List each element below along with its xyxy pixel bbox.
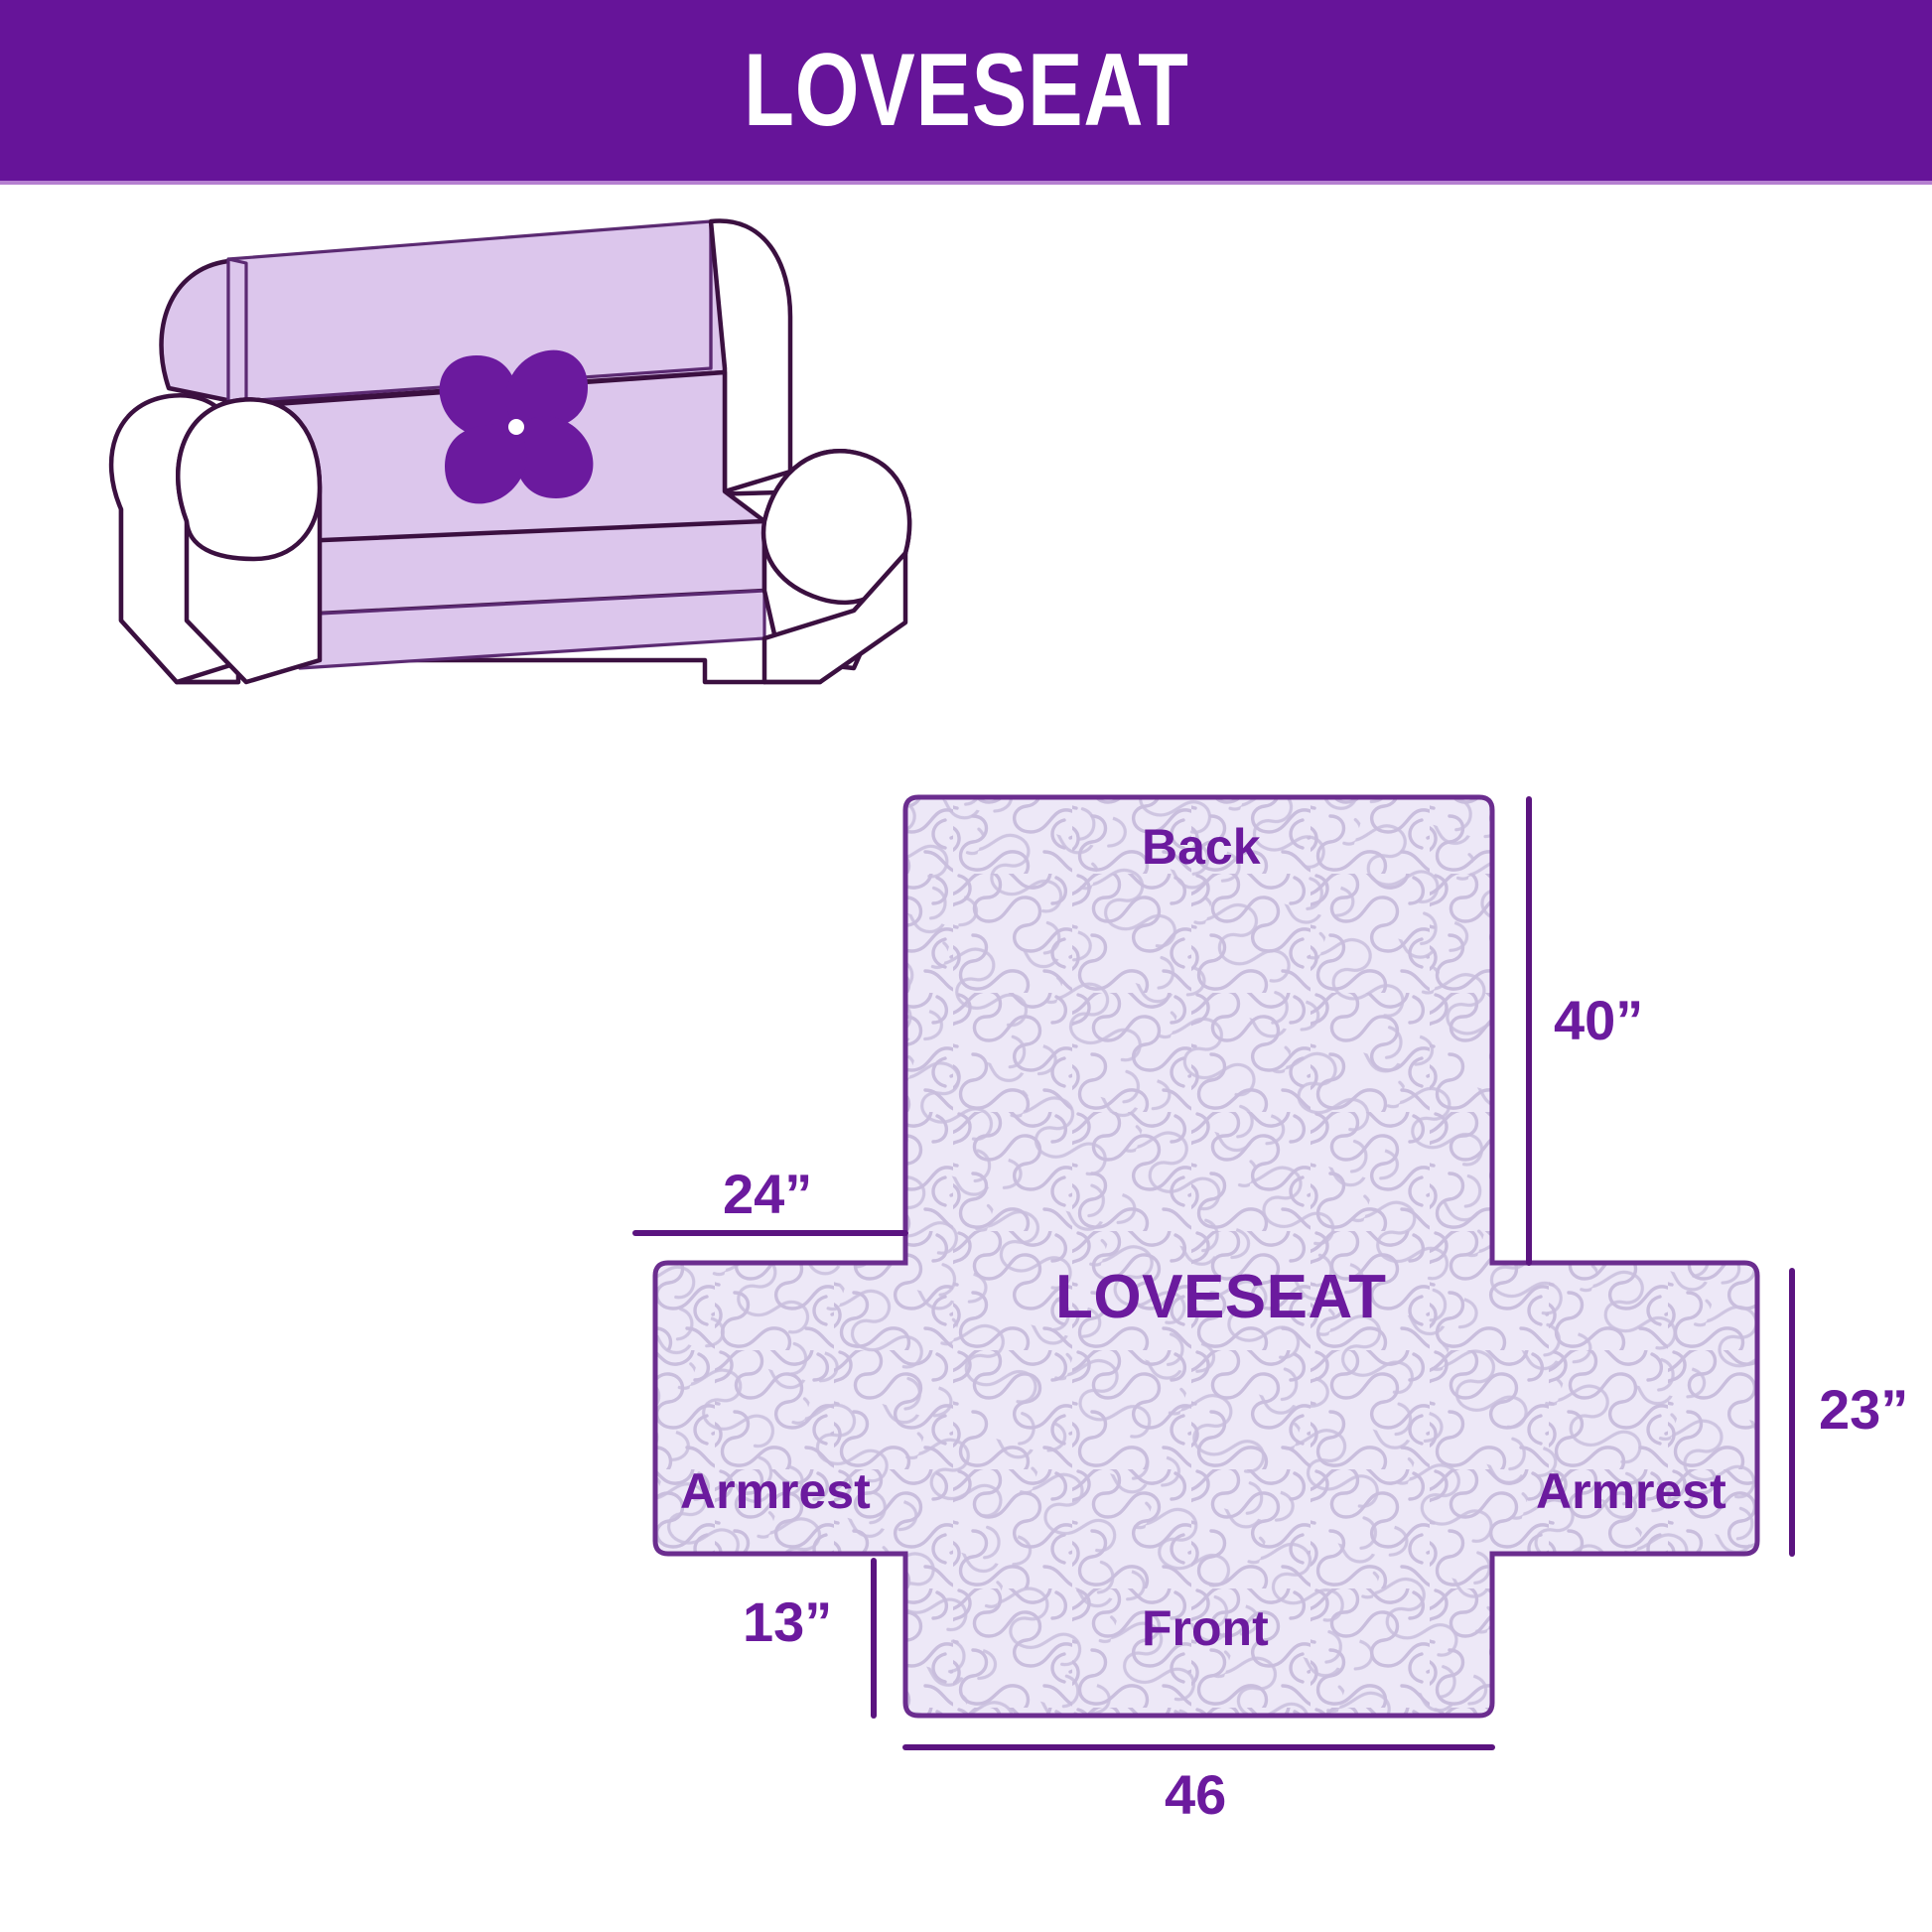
dimension-label-arm-height: 23”	[1819, 1382, 1908, 1438]
loveseat-illustration: .ln{fill:none;stroke:#3B1040;stroke-widt…	[69, 194, 983, 710]
diagram-stage: LOVESEAT .ln{fill:none;stroke:#3B1040;st…	[0, 0, 1932, 1932]
dimension-label-arm-depth: 24”	[723, 1167, 812, 1222]
page-title: LOVESEAT	[744, 39, 1189, 142]
dimension-label-front-width: 46	[1165, 1767, 1226, 1823]
header-banner: LOVESEAT	[0, 0, 1932, 181]
panel-label-armrest-right: Armrest	[1536, 1466, 1726, 1516]
header-underline	[0, 181, 1932, 185]
panel-label-back: Back	[1142, 822, 1261, 872]
pinwheel-fan-logo	[440, 350, 594, 504]
dimension-label-back-height: 40”	[1554, 993, 1643, 1048]
dimension-label-front-height: 13”	[743, 1594, 832, 1650]
panel-label-front: Front	[1142, 1603, 1269, 1653]
slipcover-pattern-diagram: Back LOVESEAT Armrest Armrest Front 40” …	[596, 755, 1932, 1866]
panel-label-center: LOVESEAT	[1055, 1267, 1387, 1328]
panel-label-armrest-left: Armrest	[680, 1466, 871, 1516]
